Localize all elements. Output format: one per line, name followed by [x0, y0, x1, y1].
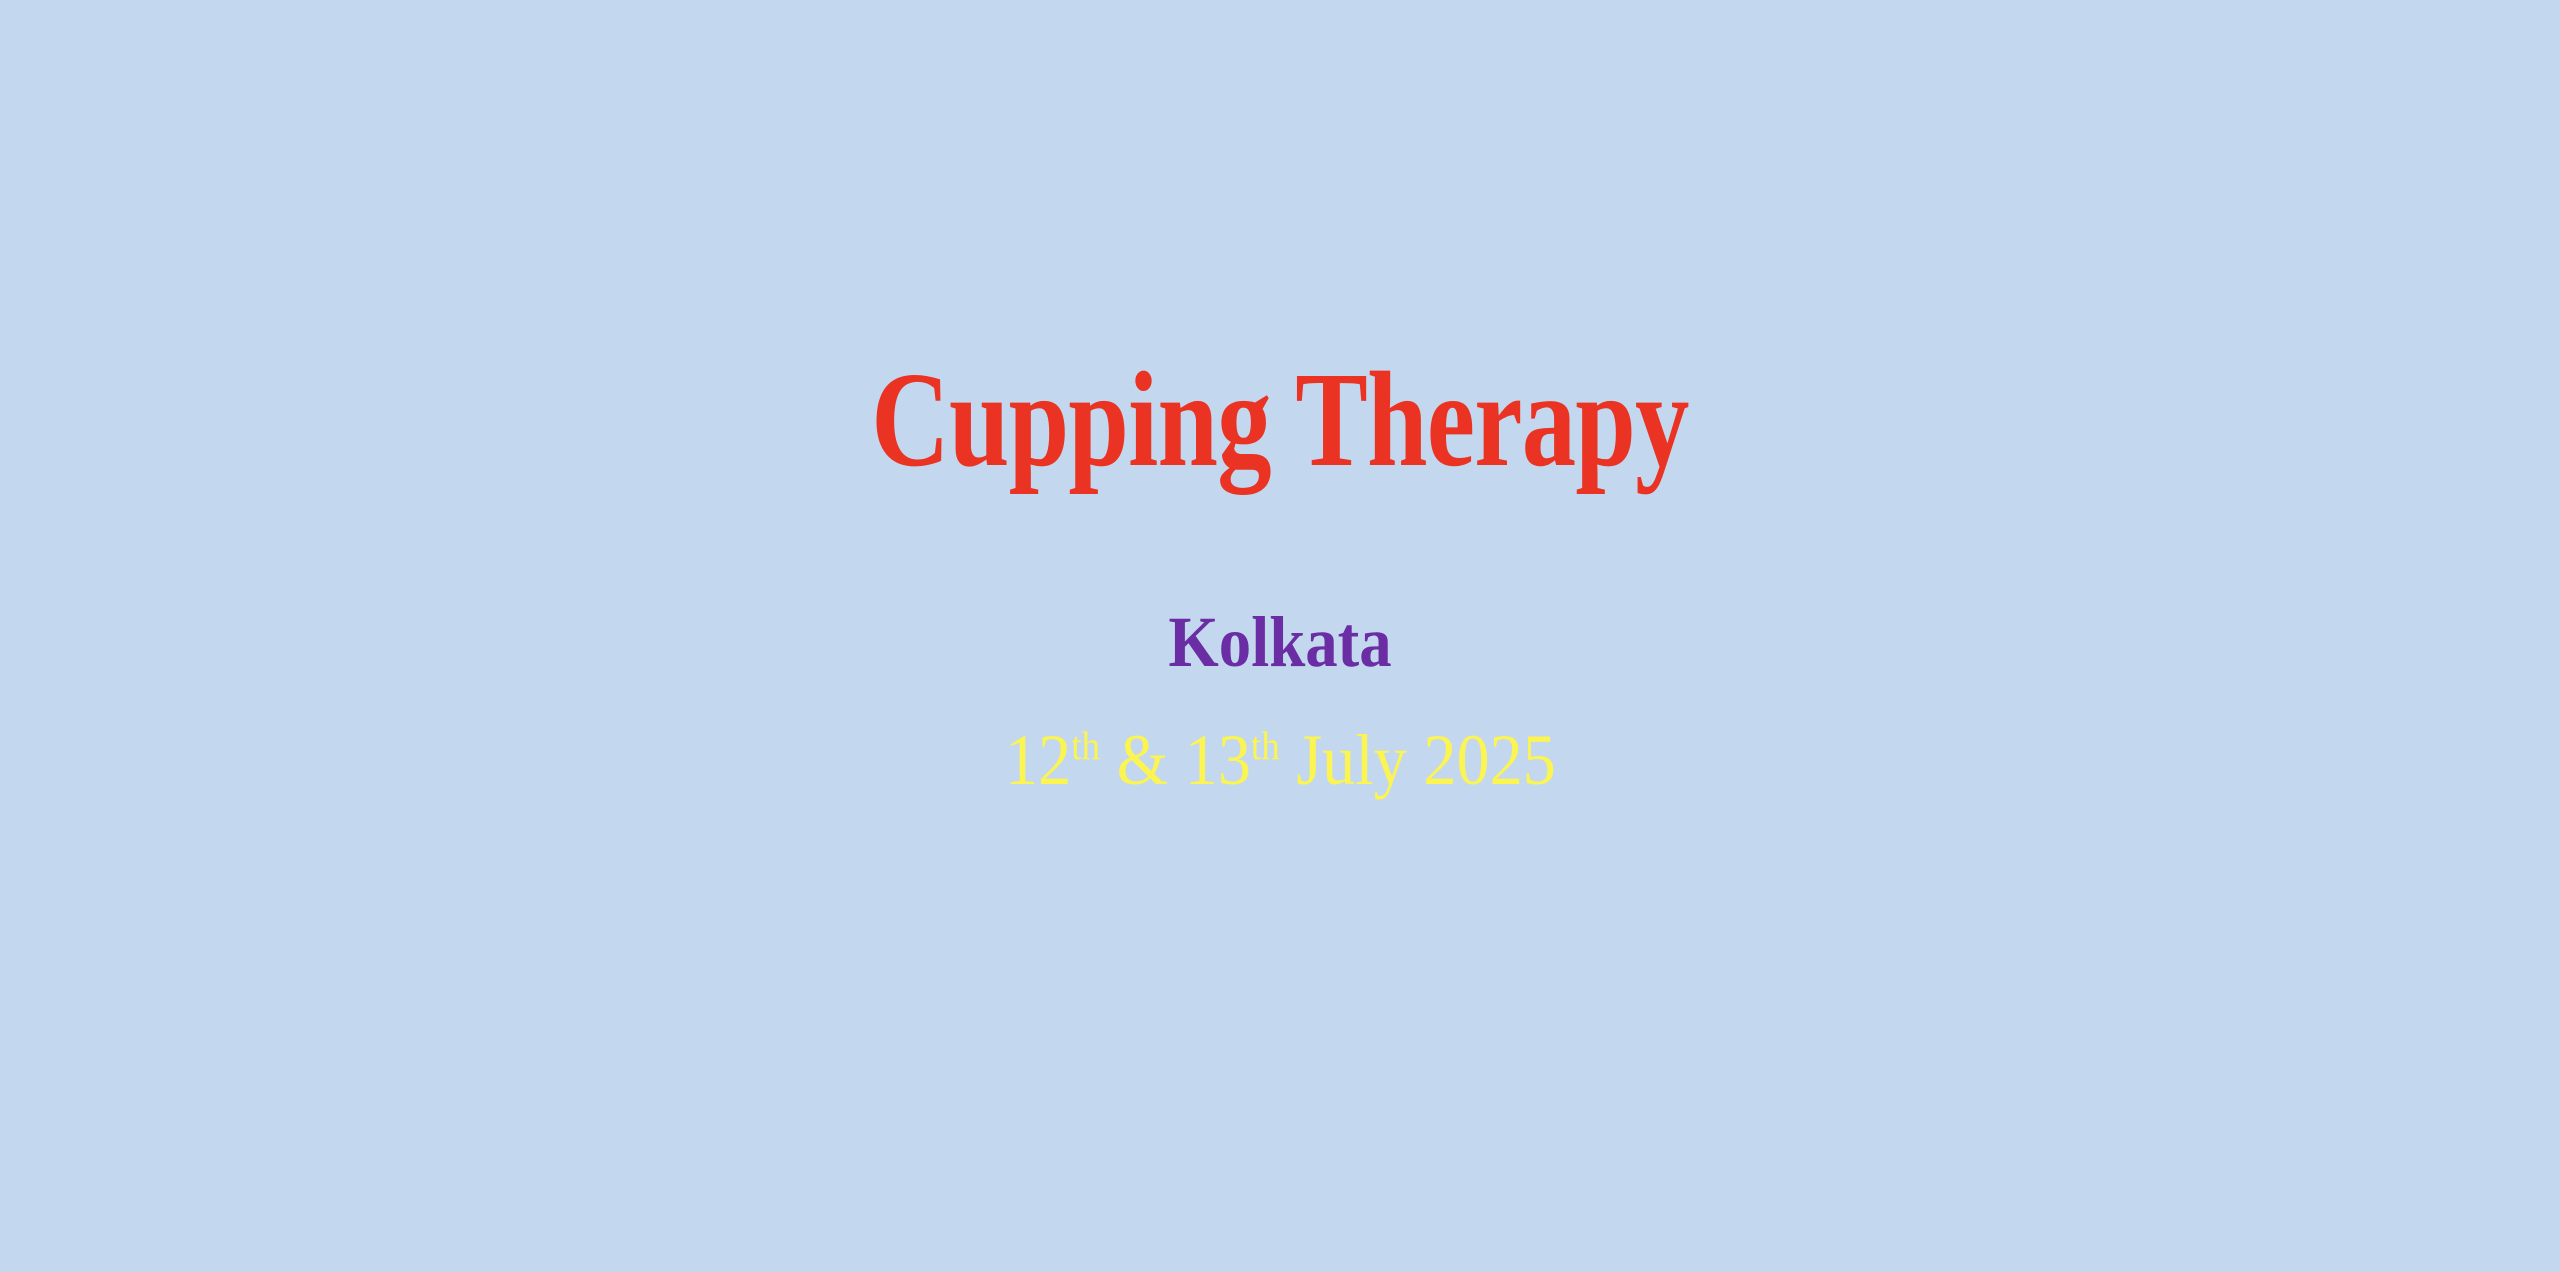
slide-location-subtitle: Kolkata	[1168, 606, 1391, 678]
date-day-second: 13	[1184, 720, 1250, 800]
date-separator: &	[1100, 720, 1185, 800]
title-slide: Cupping Therapy Kolkata 12th & 13th July…	[0, 0, 2560, 1272]
date-day-second-ordinal: th	[1251, 723, 1280, 768]
slide-date-line: 12th & 13th July 2025	[1005, 724, 1556, 796]
date-day-first-ordinal: th	[1071, 723, 1100, 768]
page-title: Cupping Therapy	[871, 352, 1688, 488]
date-month-year: July 2025	[1279, 720, 1555, 800]
slide-content-block: Cupping Therapy Kolkata 12th & 13th July…	[0, 0, 2560, 1272]
date-day-first: 12	[1005, 720, 1071, 800]
